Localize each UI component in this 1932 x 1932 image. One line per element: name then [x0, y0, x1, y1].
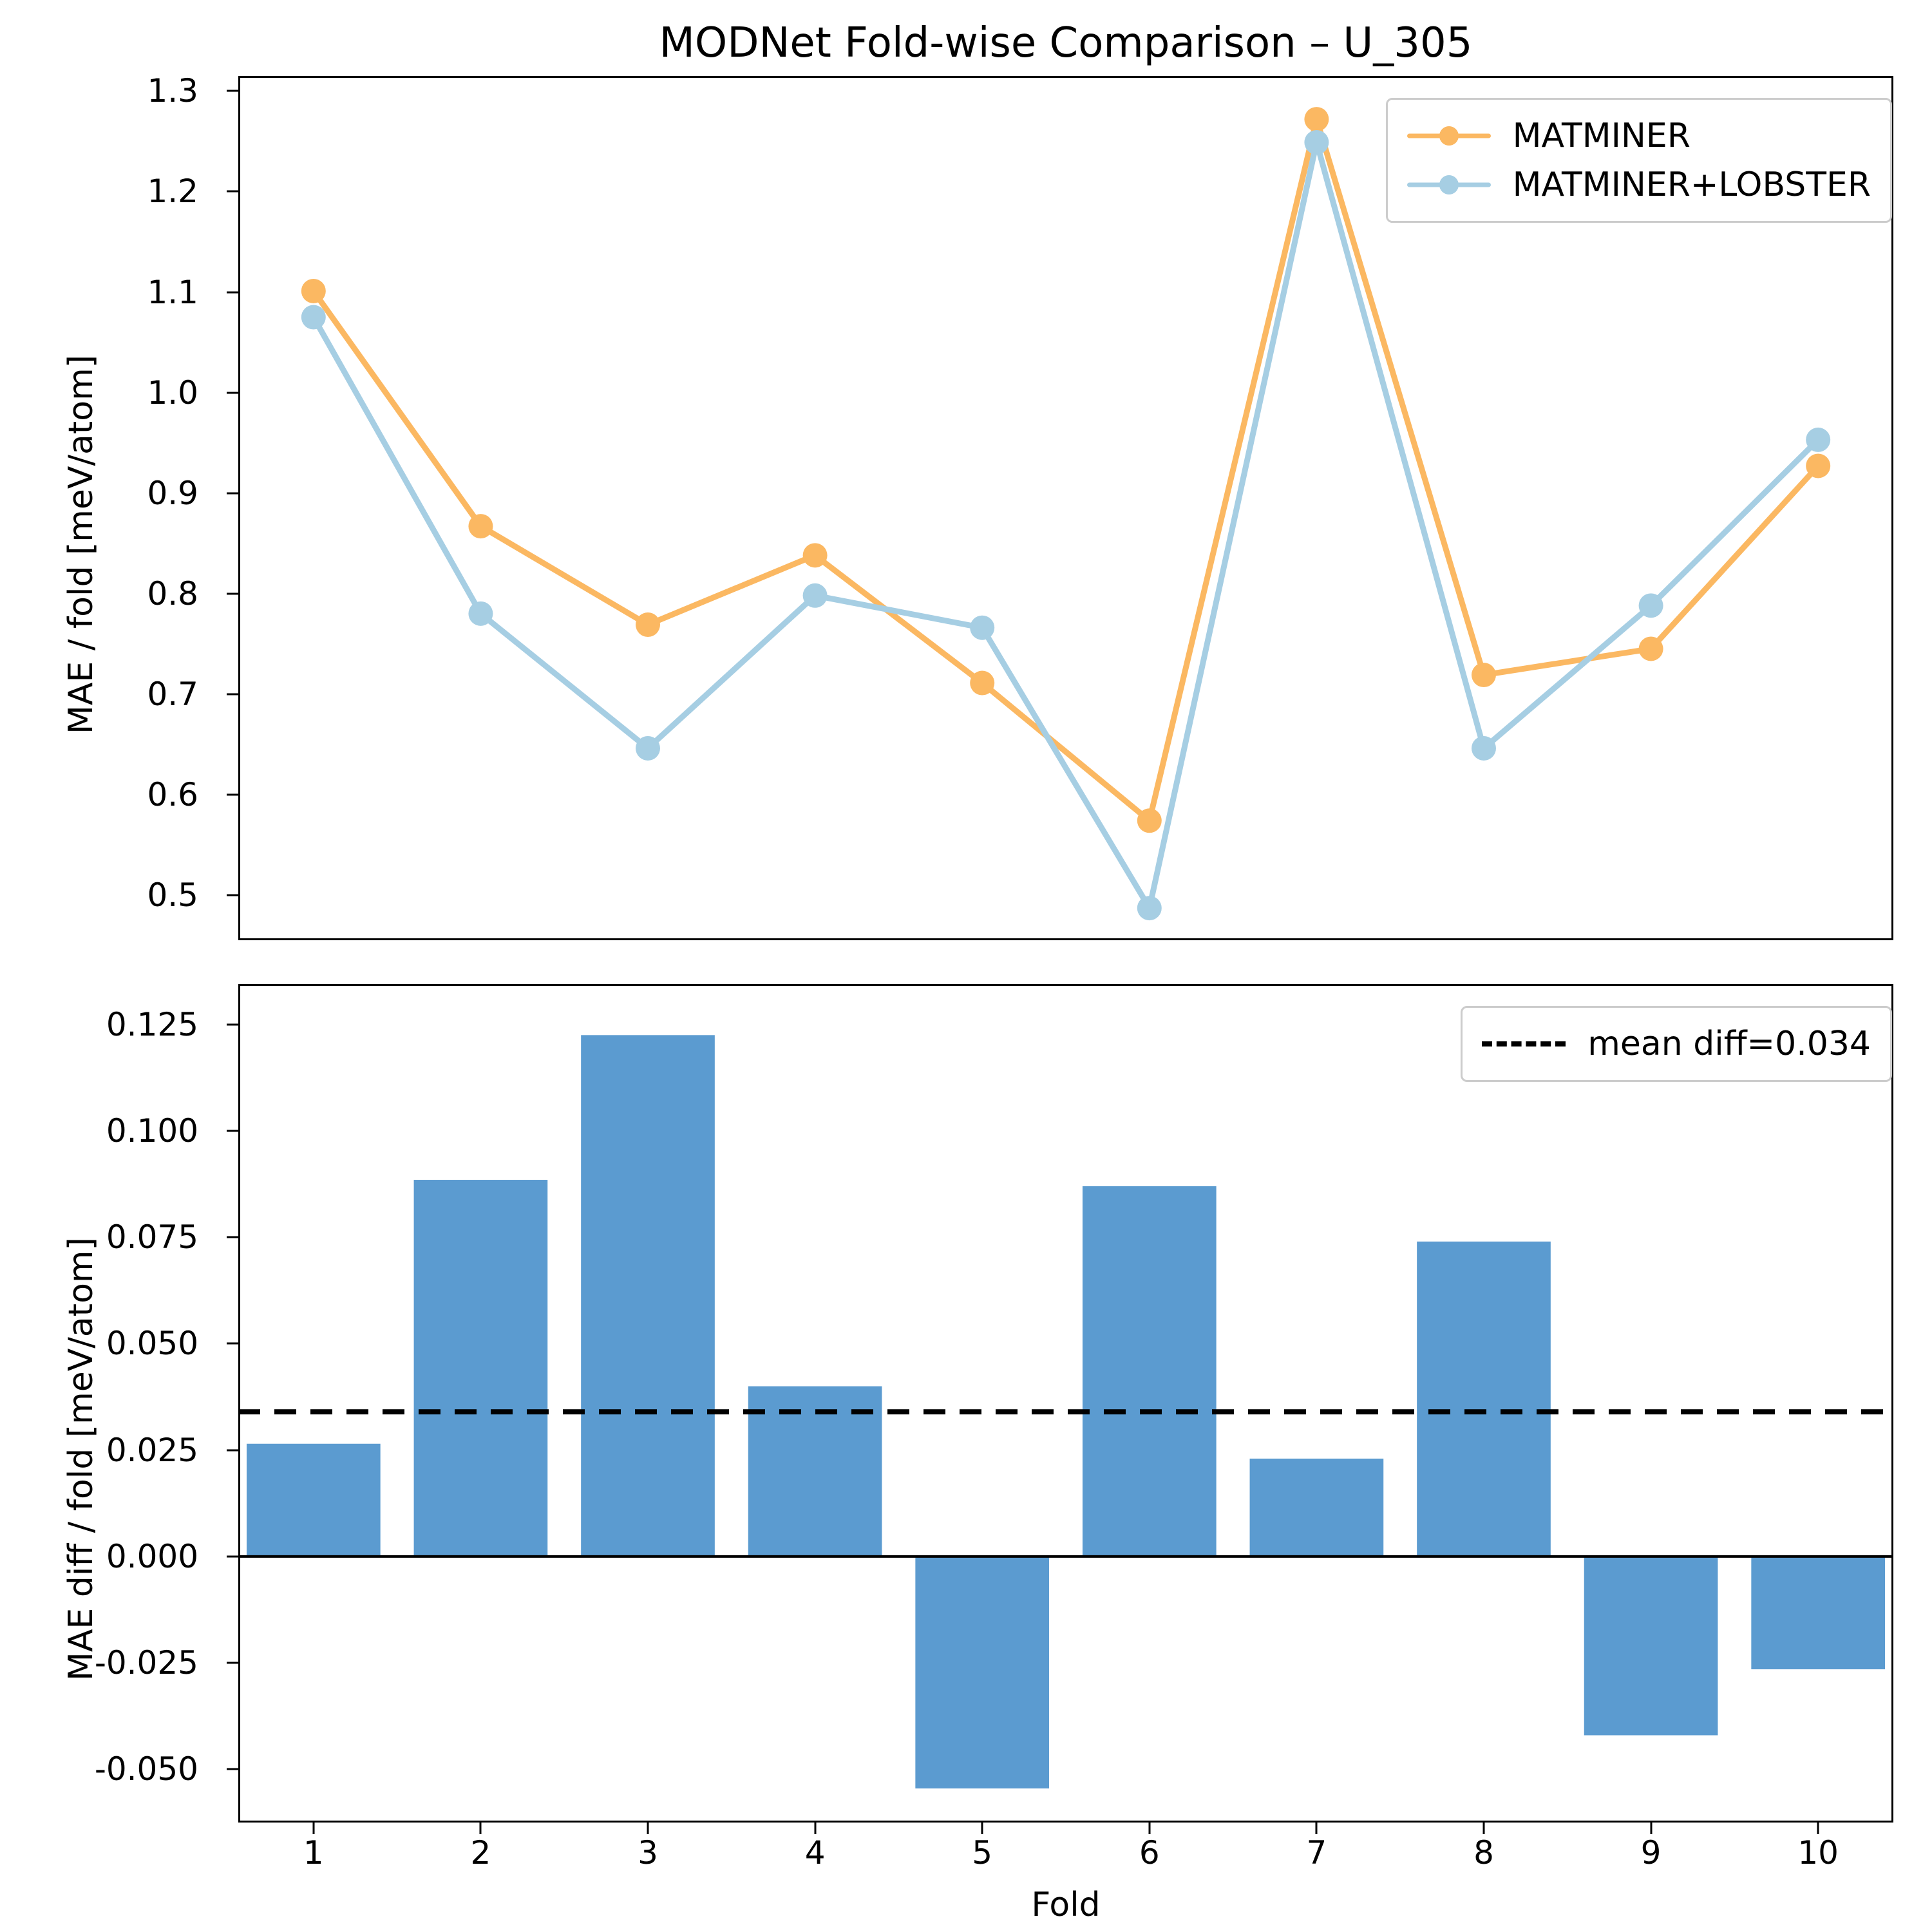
legend-item-mean-diff[interactable]: mean diff=0.034 [1482, 1019, 1871, 1068]
legend-marker-mean-diff [1482, 1031, 1566, 1057]
legend-item-matminer-lobster[interactable]: MATMINER+LOBSTER [1407, 160, 1871, 209]
bar-fold-3 [581, 1035, 715, 1557]
legend-label-mean-diff: mean diff=0.034 [1587, 1027, 1871, 1061]
data-point-matminer-fold-8 [1472, 663, 1496, 687]
data-point-matminer-fold-5 [970, 671, 994, 696]
legend-label-matminer: MATMINER [1513, 119, 1690, 153]
data-point-matminer-fold-7 [1304, 107, 1329, 131]
bar-fold-8 [1417, 1242, 1551, 1557]
data-point-matminer-fold-6 [1137, 808, 1162, 833]
data-point-matminer-lobster-fold-4 [803, 583, 828, 608]
plot-layer [0, 0, 1932, 1932]
bar-fold-2 [414, 1180, 548, 1557]
bar-fold-10 [1751, 1557, 1885, 1669]
data-point-matminer-lobster-fold-10 [1806, 428, 1830, 452]
line-series-matminer-lobster [314, 142, 1818, 908]
data-point-matminer-lobster-fold-3 [636, 736, 660, 761]
data-point-matminer-lobster-fold-6 [1137, 896, 1162, 920]
data-point-matminer-fold-4 [803, 543, 828, 567]
legend-marker-matminer-lobster [1407, 172, 1491, 198]
data-point-matminer-fold-9 [1639, 636, 1663, 661]
bar-fold-1 [247, 1444, 381, 1557]
data-point-matminer-lobster-fold-9 [1639, 593, 1663, 618]
data-point-matminer-lobster-fold-7 [1304, 130, 1329, 155]
line-series-matminer [314, 119, 1818, 820]
legend-marker-matminer [1407, 123, 1491, 149]
bar-fold-9 [1584, 1557, 1718, 1736]
bar-fold-7 [1250, 1459, 1384, 1557]
data-point-matminer-lobster-fold-5 [970, 616, 994, 640]
data-point-matminer-lobster-fold-2 [468, 601, 493, 626]
bar-fold-6 [1083, 1186, 1217, 1557]
data-point-matminer-fold-10 [1806, 453, 1830, 478]
figure-canvas: MODNet Fold-wise Comparison – U_305 MAE … [0, 0, 1932, 1932]
data-point-matminer-lobster-fold-1 [301, 305, 326, 330]
legend-item-matminer[interactable]: MATMINER [1407, 111, 1871, 160]
bottom-chart-legend: mean diff=0.034 [1461, 1006, 1892, 1082]
top-chart-legend: MATMINER MATMINER+LOBSTER [1386, 98, 1892, 223]
data-point-matminer-fold-2 [468, 514, 493, 538]
legend-label-matminer-lobster: MATMINER+LOBSTER [1513, 168, 1871, 202]
bar-fold-5 [915, 1557, 1049, 1788]
data-point-matminer-fold-3 [636, 612, 660, 637]
data-point-matminer-lobster-fold-8 [1472, 736, 1496, 761]
data-point-matminer-fold-1 [301, 279, 326, 303]
